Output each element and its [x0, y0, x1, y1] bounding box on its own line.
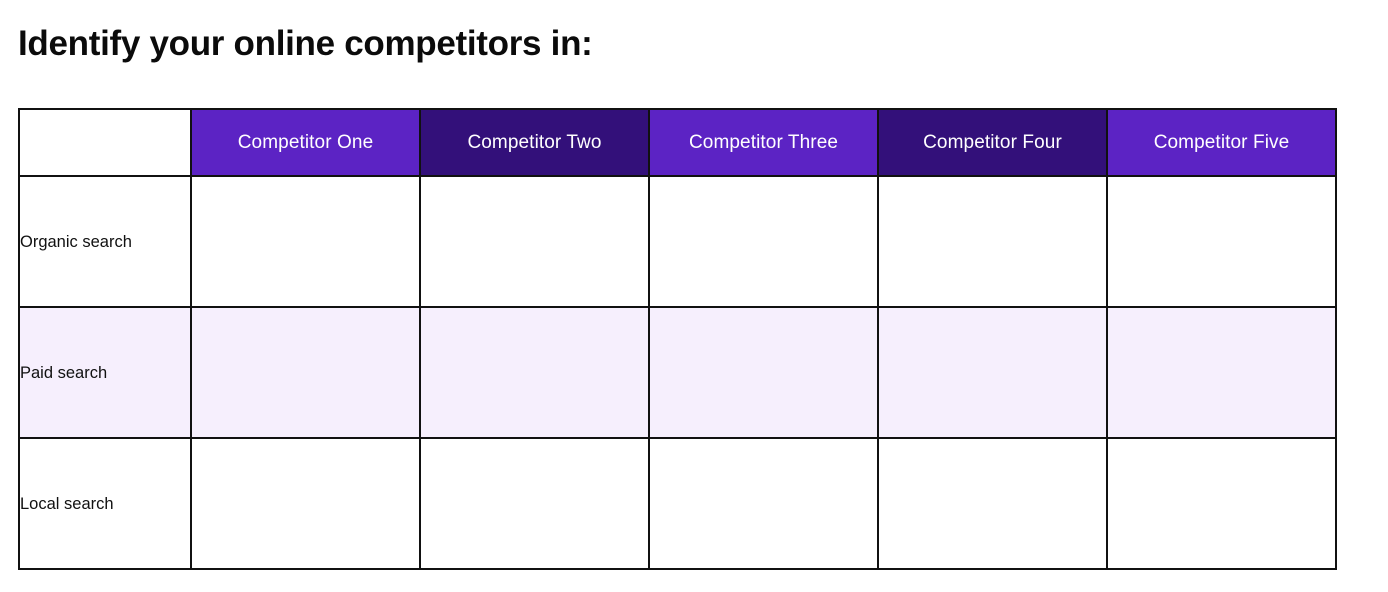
table-row: Organic search: [19, 176, 1336, 307]
row-label-organic-search: Organic search: [19, 176, 191, 307]
entry-cell-paid-competitor-five[interactable]: [1107, 307, 1336, 438]
entry-cell-paid-competitor-four[interactable]: [878, 307, 1107, 438]
row-label-paid-search: Paid search: [19, 307, 191, 438]
entry-cell-organic-competitor-four[interactable]: [878, 176, 1107, 307]
table-row: Paid search: [19, 307, 1336, 438]
entry-cell-local-competitor-three[interactable]: [649, 438, 878, 569]
column-header-competitor-three[interactable]: Competitor Three: [649, 109, 878, 176]
entry-cell-local-competitor-four[interactable]: [878, 438, 1107, 569]
entry-cell-paid-competitor-three[interactable]: [649, 307, 878, 438]
entry-cell-local-competitor-five[interactable]: [1107, 438, 1336, 569]
entry-cell-organic-competitor-three[interactable]: [649, 176, 878, 307]
competitor-worksheet: Competitor One Competitor Two Competitor…: [18, 108, 1335, 570]
worksheet-page: Identify your online competitors in: Com…: [0, 0, 1388, 592]
entry-cell-local-competitor-one[interactable]: [191, 438, 420, 569]
entry-cell-organic-competitor-two[interactable]: [420, 176, 649, 307]
entry-cell-paid-competitor-one[interactable]: [191, 307, 420, 438]
column-header-competitor-two[interactable]: Competitor Two: [420, 109, 649, 176]
column-header-competitor-five[interactable]: Competitor Five: [1107, 109, 1336, 176]
table-header-row: Competitor One Competitor Two Competitor…: [19, 109, 1336, 176]
entry-cell-organic-competitor-five[interactable]: [1107, 176, 1336, 307]
table-corner-cell: [19, 109, 191, 176]
entry-cell-local-competitor-two[interactable]: [420, 438, 649, 569]
column-header-competitor-four[interactable]: Competitor Four: [878, 109, 1107, 176]
page-title: Identify your online competitors in:: [18, 22, 593, 66]
row-label-local-search: Local search: [19, 438, 191, 569]
column-header-competitor-one[interactable]: Competitor One: [191, 109, 420, 176]
entry-cell-organic-competitor-one[interactable]: [191, 176, 420, 307]
competitor-table: Competitor One Competitor Two Competitor…: [18, 108, 1337, 570]
table-row: Local search: [19, 438, 1336, 569]
entry-cell-paid-competitor-two[interactable]: [420, 307, 649, 438]
